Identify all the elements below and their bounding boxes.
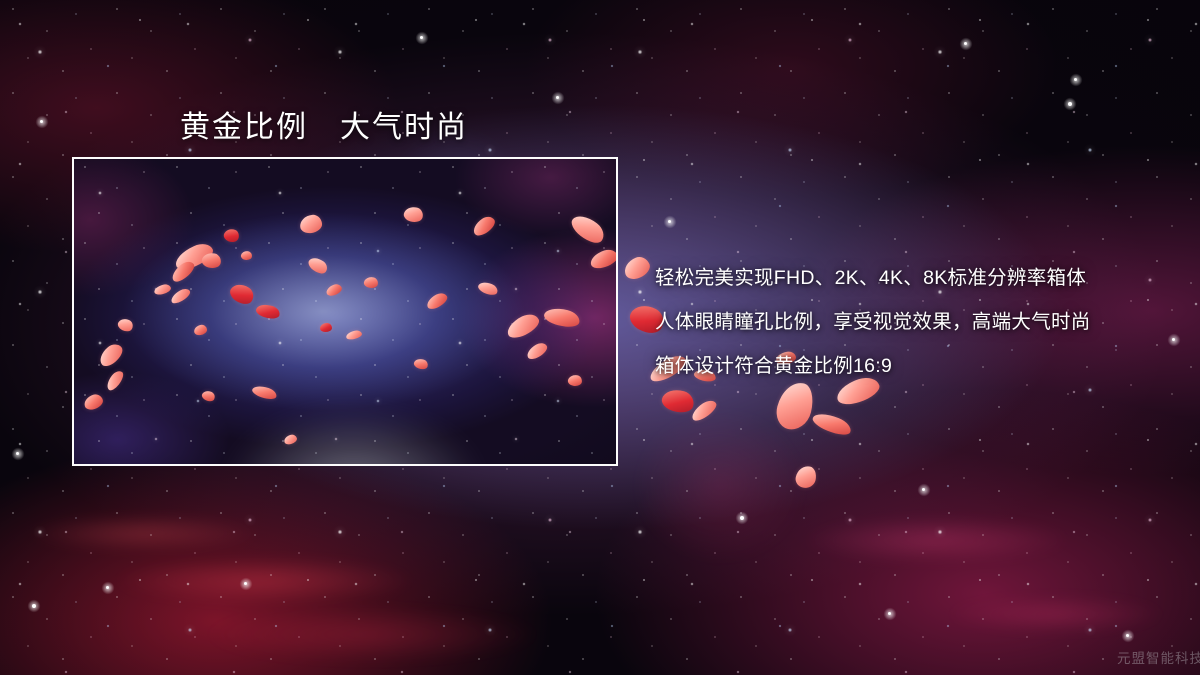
bright-star — [1074, 78, 1077, 81]
bright-star — [964, 42, 967, 45]
bright-star — [106, 586, 109, 589]
rose-petal — [320, 323, 332, 332]
feature-line-3: 箱体设计符合黄金比例16:9 — [655, 344, 1091, 388]
bright-star — [1068, 102, 1072, 106]
framed-galaxy-photo — [72, 157, 618, 466]
bright-star — [668, 220, 671, 223]
bright-star — [32, 604, 36, 608]
bright-star — [888, 612, 891, 615]
presentation-slide: 黄金比例 大气时尚 轻松完美实现FHD、2K、4K、8K标准分辨率箱体 人体眼睛… — [0, 0, 1200, 675]
bright-star — [1172, 338, 1175, 341]
slide-title: 黄金比例 大气时尚 — [180, 102, 468, 146]
photo-star-layer-large — [74, 159, 616, 464]
bright-star — [740, 516, 744, 520]
bright-star — [420, 36, 423, 39]
bright-star — [922, 488, 925, 491]
feature-line-2: 人体眼睛瞳孔比例，享受视觉效果，高端大气时尚 — [655, 300, 1091, 344]
feature-description-block: 轻松完美实现FHD、2K、4K、8K标准分辨率箱体 人体眼睛瞳孔比例，享受视觉效… — [655, 256, 1091, 388]
bright-star — [1126, 634, 1129, 637]
company-watermark: 元盟智能科技 — [1117, 647, 1200, 667]
bright-star — [244, 582, 247, 585]
bright-star — [556, 96, 559, 99]
feature-line-1: 轻松完美实现FHD、2K、4K、8K标准分辨率箱体 — [655, 256, 1091, 300]
bright-star — [40, 120, 43, 123]
bright-star — [16, 452, 19, 455]
